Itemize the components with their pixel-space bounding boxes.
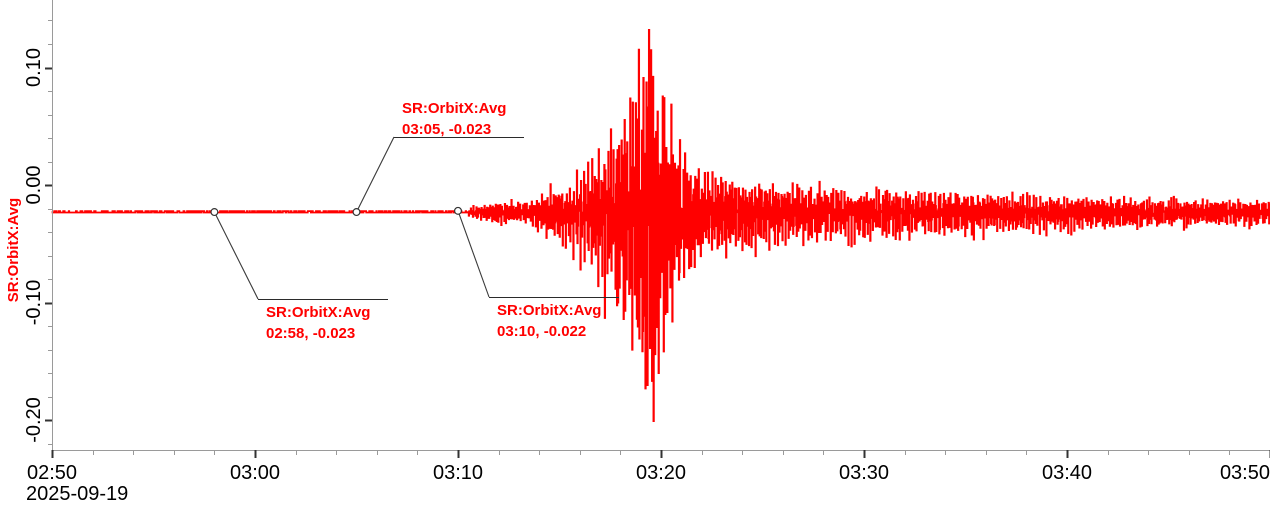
waveform-trace-layer xyxy=(52,30,1270,421)
y-axis-tick-labels: 0.100.00-0.10-0.20 xyxy=(23,48,45,443)
annotation-value-readout: 02:58, -0.023 xyxy=(266,325,355,342)
seismogram-plot: 0.100.00-0.10-0.20 02:5003:0003:1003:200… xyxy=(0,0,1270,510)
annotation-leader-line xyxy=(357,137,395,212)
annotation-value-readout: 03:05, -0.023 xyxy=(402,121,491,138)
annotation-point-marker[interactable] xyxy=(353,209,360,216)
chart-root: 0.100.00-0.10-0.20 02:5003:0003:1003:200… xyxy=(0,0,1270,510)
annotation-point-marker[interactable] xyxy=(455,207,462,214)
annotation-pv-name: SR:OrbitX:Avg xyxy=(402,100,506,117)
y-tick-label: -0.10 xyxy=(23,280,45,326)
x-tick-label: 03:10 xyxy=(433,462,483,484)
waveform-trace xyxy=(52,30,1270,421)
y-tick-label: 0.10 xyxy=(23,48,45,87)
x-tick-label: 03:40 xyxy=(1042,462,1092,484)
annotation-leader-line xyxy=(458,211,489,297)
y-tick-label: -0.20 xyxy=(23,397,45,443)
y-axis-title: SR:OrbitX:Avg xyxy=(5,198,22,302)
x-tick-label: 03:00 xyxy=(230,462,280,484)
x-axis-tick-labels: 02:5003:0003:1003:2003:3003:4003:50 xyxy=(27,462,1270,484)
annotation-pv-name: SR:OrbitX:Avg xyxy=(497,302,601,319)
x-tick-label: 02:50 xyxy=(27,462,77,484)
y-tick-label: 0.00 xyxy=(23,166,45,205)
x-axis-ticks xyxy=(53,450,1270,458)
annotation-leader-line xyxy=(214,212,258,299)
x-tick-label: 03:30 xyxy=(839,462,889,484)
x-axis-date-label: 2025-09-19 xyxy=(26,483,128,505)
y-axis-ticks xyxy=(45,21,52,445)
x-tick-label: 03:20 xyxy=(636,462,686,484)
annotation-value-readout: 03:10, -0.022 xyxy=(497,323,586,340)
annotation-pv-name: SR:OrbitX:Avg xyxy=(266,304,370,321)
annotation-point-marker[interactable] xyxy=(211,209,218,216)
annotation-0305[interactable]: SR:OrbitX:Avg03:05, -0.023 xyxy=(353,100,524,215)
x-tick-label: 03:50 xyxy=(1220,462,1270,484)
annotation-0258[interactable]: SR:OrbitX:Avg02:58, -0.023 xyxy=(211,209,388,342)
